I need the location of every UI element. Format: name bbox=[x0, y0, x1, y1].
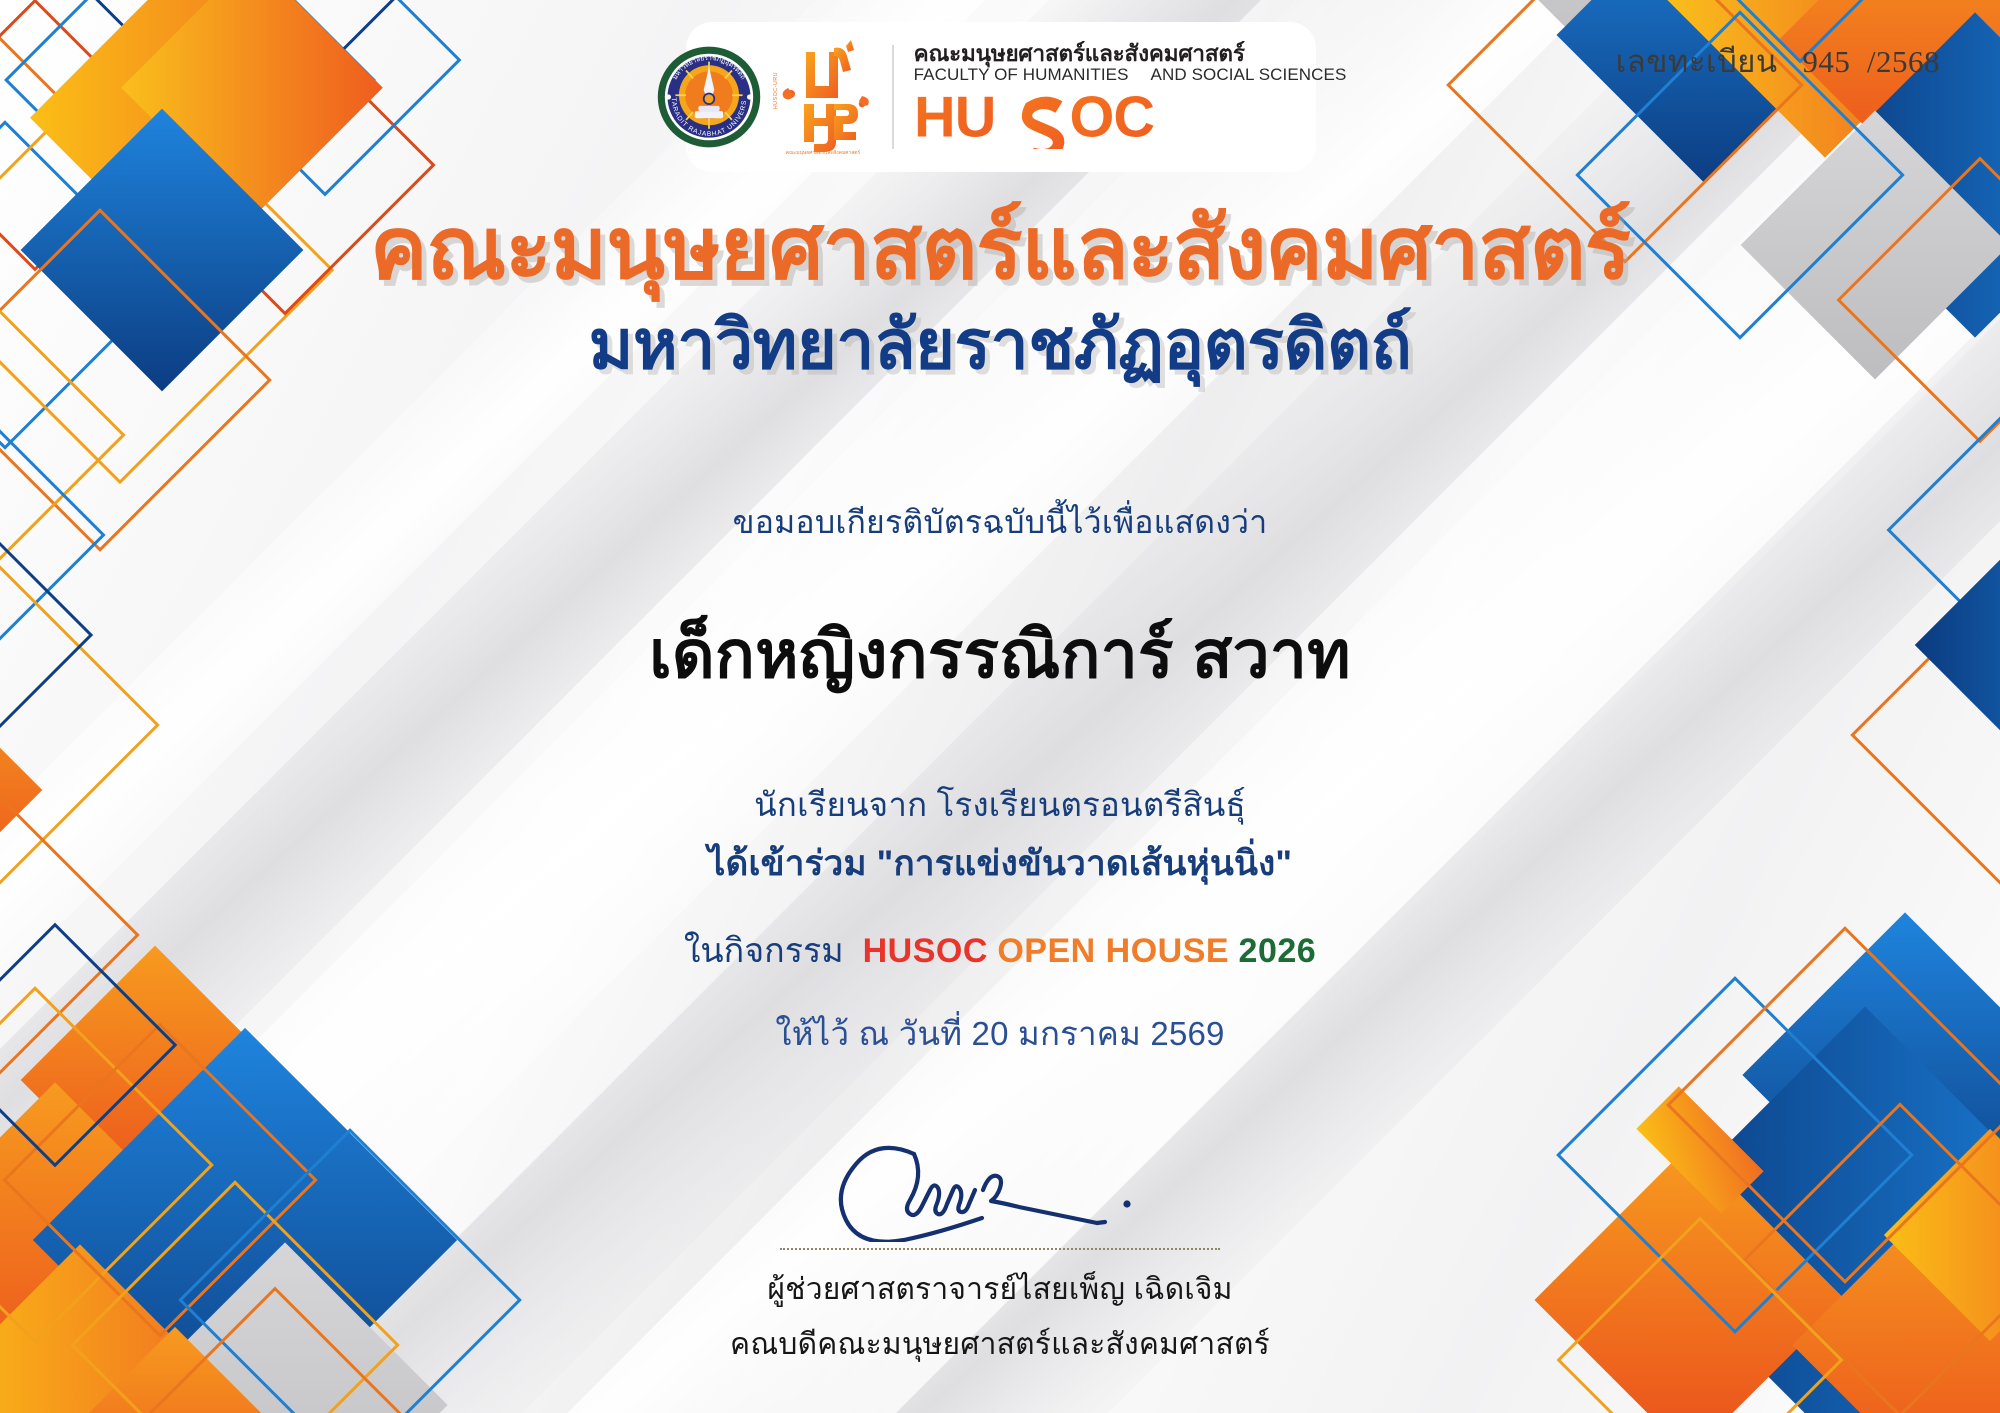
svg-text:OC: OC bbox=[1069, 87, 1154, 149]
page-title-faculty: คณะมนุษยศาสตร์และสังคมศาสตร์ bbox=[0, 203, 2000, 296]
certificate-subtitle: ขอมอบเกียรติบัตรฉบับนี้ไว้เพื่อแสดงว่า bbox=[0, 497, 2000, 548]
deco-cluster-left-middle bbox=[0, 387, 158, 1098]
activity-line: ในกิจกรรม HUSOC OPEN HOUSE 2026 bbox=[0, 923, 2000, 977]
registration-year: /2568 bbox=[1867, 44, 1940, 79]
signer-name: ผู้ช่วยศาสตราจารย์ไสยเพ็ญ เฉิดเจิม bbox=[0, 1266, 2000, 1313]
registration-label: เลขทะเบียน bbox=[1616, 44, 1778, 79]
activity-prefix: ในกิจกรรม bbox=[684, 932, 844, 970]
recipient-school: นักเรียนจาก โรงเรียนตรอนตรีสินธุ์ bbox=[0, 778, 2000, 831]
svg-text:HU: HU bbox=[914, 87, 995, 149]
recipient-name: เด็กหญิงกรรณิการ์ สวาท bbox=[0, 602, 2000, 707]
certificate-page: มหาวิทยาลัยราชภัฏอุตรดิตถ์ UTTARADIT RAJ… bbox=[0, 0, 2000, 1413]
faculty-en-right: AND SOCIAL SCIENCES bbox=[1151, 66, 1347, 85]
faculty-name-english: FACULTY OF HUMANITIES AND SOCIAL SCIENCE… bbox=[914, 66, 1347, 85]
page-title-university: มหาวิทยาลัยราชภัฏอุตรดิตถ์ bbox=[0, 308, 2000, 383]
signer-role: คณบดีคณะมนุษยศาสตร์และสังคมศาสตร์ bbox=[0, 1321, 2000, 1368]
handwritten-signature-icon bbox=[790, 1130, 1210, 1242]
faculty-en-left: FACULTY OF HUMANITIES bbox=[914, 66, 1129, 85]
faculty-name-thai: คณะมนุษยศาสตร์และสังคมศาสตร์ bbox=[914, 42, 1347, 66]
activity-year: 2026 bbox=[1239, 932, 1317, 970]
activity-husoc: HUSOC bbox=[863, 932, 988, 970]
signature-block: ผู้ช่วยศาสตราจารย์ไสยเพ็ญ เฉิดเจิม คณบดี… bbox=[0, 1130, 2000, 1368]
uttaradit-rajabhat-university-seal-icon: มหาวิทยาลัยราชภัฏอุตรดิตถ์ UTTARADIT RAJ… bbox=[656, 44, 762, 150]
dean-signature-image bbox=[0, 1130, 2000, 1242]
signature-rule bbox=[780, 1248, 1220, 1250]
logo-divider bbox=[892, 45, 894, 149]
registration-value: 945 bbox=[1802, 44, 1850, 79]
husoc-wordmark: HU OC bbox=[914, 87, 1347, 152]
event-participation: ได้เข้าร่วม "การแข่งขันวาดเส้นหุ่นนิ่ง" bbox=[0, 836, 2000, 891]
faculty-logo-bar: มหาวิทยาลัยราชภัฏอุตรดิตถ์ UTTARADIT RAJ… bbox=[686, 22, 1316, 172]
monogram-under-caption: คณะมนุษยศาสตร์และสังคมศาสตร์ bbox=[786, 149, 861, 157]
registration-number: เลขทะเบียน 945 /2568 bbox=[1616, 36, 1940, 86]
activity-open-house: OPEN HOUSE bbox=[997, 932, 1229, 970]
monogram-side-caption: HUSOC-URU bbox=[774, 72, 780, 109]
issue-date: ให้ไว้ ณ วันที่ 20 มกราคม 2569 bbox=[0, 1007, 2000, 1060]
husoc-hs-monogram-icon: HUSOC-URU คณะมนุษยศาสตร์และสังคมศาสตร์ bbox=[776, 38, 872, 156]
logo-text-group: คณะมนุษยศาสตร์และสังคมศาสตร์ FACULTY OF … bbox=[914, 42, 1347, 151]
